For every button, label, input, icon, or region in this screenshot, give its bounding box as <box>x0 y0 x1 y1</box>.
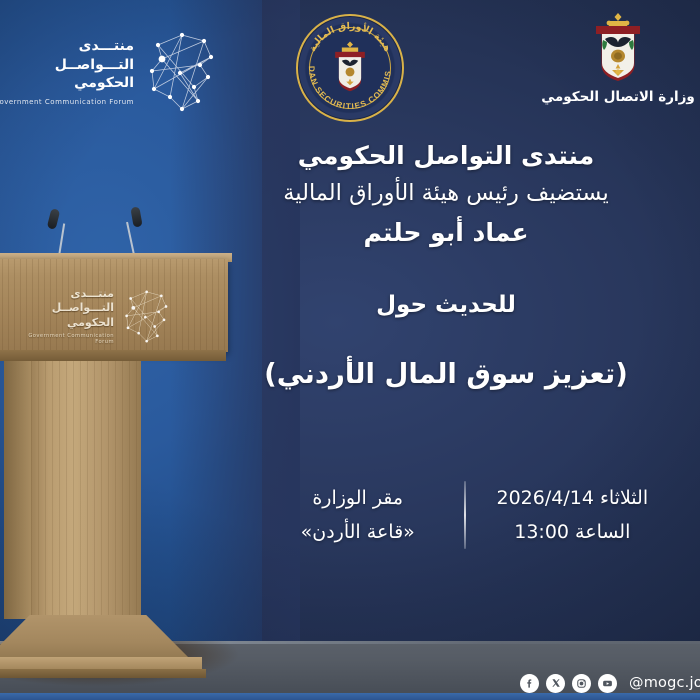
facebook-icon[interactable] <box>520 674 539 693</box>
podium-column <box>31 361 141 619</box>
jordan-network-map-icon <box>120 289 172 344</box>
social-media-bar: @mogc.jo <box>520 670 700 696</box>
podium-column-side <box>4 361 32 619</box>
event-time: الساعة 13:00 <box>514 521 630 543</box>
details-divider <box>464 481 466 549</box>
venue-column: مقر الوزارة «قاعة الأردن» <box>275 487 440 543</box>
about-label: للحديث حول <box>210 292 682 318</box>
podium-base-plate-lower <box>0 669 206 678</box>
forum-logo: منتـــدى التـــواصــل الحكومي Government… <box>20 24 220 119</box>
poster-header: منتـــدى التـــواصــل الحكومي Government… <box>0 0 700 132</box>
date-time-column: الثلاثاء 2026/4/14 الساعة 13:00 <box>490 487 655 543</box>
podium-base-flare <box>0 615 192 661</box>
microphone-head-left <box>47 208 61 230</box>
forum-logo-line-1: منتـــدى <box>79 37 134 56</box>
speaker-name: عماد أبو حلتم <box>210 218 682 247</box>
event-details: الثلاثاء 2026/4/14 الساعة 13:00 مقر الوز… <box>250 470 680 560</box>
podium-logo-line-3: الحكومي <box>67 316 114 330</box>
youtube-icon[interactable] <box>598 674 617 693</box>
podium-logo-line-2: التـــواصــل <box>52 301 114 315</box>
announcement-copy: منتدى التواصل الحكومي يستضيف رئيس هيئة ا… <box>210 132 682 390</box>
jordan-coat-of-arms-icon <box>587 12 649 84</box>
jordan-coat-of-arms-icon <box>327 38 373 94</box>
event-title: منتدى التواصل الحكومي <box>210 141 682 170</box>
forum-logo-line-2: التـــواصــل <box>55 56 134 75</box>
podium-desk-lip <box>0 350 226 361</box>
jordan-network-map-icon <box>142 31 220 113</box>
jsc-seal-logo: JORDAN SECURITIES COMMISSION هيئة الأورا… <box>296 14 404 122</box>
instagram-icon[interactable] <box>572 674 591 693</box>
social-handle[interactable]: @mogc.jo <box>629 675 700 691</box>
forum-logo-line-3: الحكومي <box>74 74 134 93</box>
ministry-logo-label: وزارة الاتصال الحكومي <box>541 89 695 105</box>
podium-logo-english: Government Communication Forum <box>12 333 114 345</box>
event-date: الثلاثاء 2026/4/14 <box>496 487 648 509</box>
podium-logo-line-1: منتـــدى <box>70 287 114 301</box>
event-topic: (تعزيز سوق المال الأردني) <box>210 358 682 390</box>
forum-logo-english: Government Communication Forum <box>0 98 134 106</box>
podium-forum-logo: منتـــدى التـــواصــل الحكومي Government… <box>12 287 172 345</box>
event-announcement-poster: منتـــدى التـــواصــل الحكومي Government… <box>0 0 700 700</box>
event-venue: مقر الوزارة <box>312 487 403 509</box>
podium-column-grain <box>31 361 141 619</box>
event-hall: «قاعة الأردن» <box>301 521 415 543</box>
x-twitter-icon[interactable] <box>546 674 565 693</box>
event-subtitle: يستضيف رئيس هيئة الأوراق المالية <box>210 180 682 206</box>
speaker-podium: منتـــدى التـــواصــل الحكومي Government… <box>0 205 244 675</box>
ministry-logo: وزارة الاتصال الحكومي <box>548 12 688 124</box>
microphone-head-right <box>130 206 142 227</box>
